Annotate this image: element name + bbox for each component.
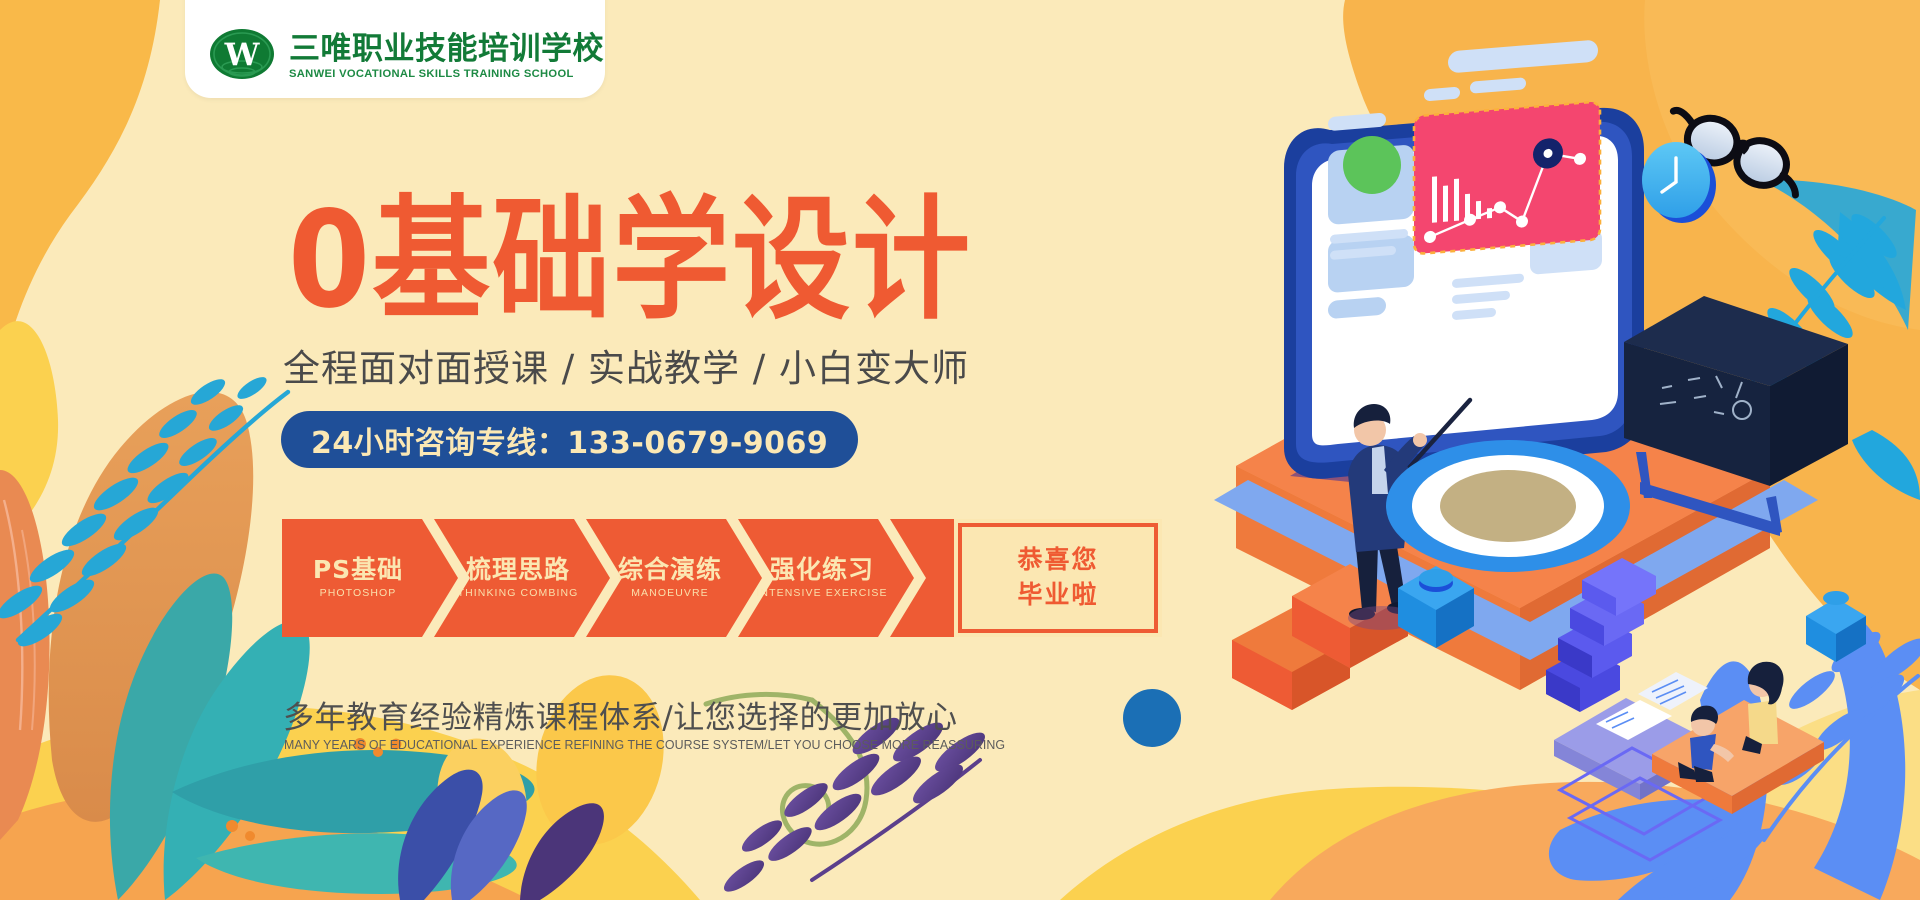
footer-tagline-en: MANY YEARS OF EDUCATIONAL EXPERIENCE REF… xyxy=(284,738,1005,752)
w-oval-logo-icon: W xyxy=(209,26,275,82)
brand-name-en: SANWEI VOCATIONAL SKILLS TRAINING SCHOOL xyxy=(289,68,604,80)
svg-text:W: W xyxy=(224,37,261,73)
footer-tagline-cn: 多年教育经验精炼课程体系/让您选择的更加放心 xyxy=(283,692,958,737)
green-dot xyxy=(1343,136,1401,194)
logo-badge[interactable]: W 三唯职业技能培训学校 SANWEI VOCATIONAL SKILLS TR… xyxy=(185,0,605,98)
promo-banner: W 三唯职业技能培训学校 SANWEI VOCATIONAL SKILLS TR… xyxy=(0,0,1920,900)
hotline-label: 24小时咨询专线：133-0679-9069 xyxy=(311,418,828,462)
graduation-line-1: 恭喜您 xyxy=(1017,546,1098,575)
page-title: 0基础学设计 xyxy=(288,193,972,326)
course-steps: PS基础 PHOTOSHOP 梳理思路 THINKING COMBING 综合演… xyxy=(282,519,1162,637)
graduation-badge[interactable]: 恭喜您 毕业啦 xyxy=(960,519,1156,637)
hero-content: 0基础学设计 全程面对面授课 / 实战教学 / 小白变大师 24小时咨询专线：1… xyxy=(0,0,1250,900)
brand-name-cn: 三唯职业技能培训学校 xyxy=(289,33,604,66)
subtitle: 全程面对面授课 / 实战教学 / 小白变大师 xyxy=(283,338,969,392)
rug xyxy=(1386,440,1630,572)
graduation-line-2: 毕业啦 xyxy=(1017,581,1098,610)
hotline-pill[interactable]: 24小时咨询专线：133-0679-9069 xyxy=(281,411,858,468)
